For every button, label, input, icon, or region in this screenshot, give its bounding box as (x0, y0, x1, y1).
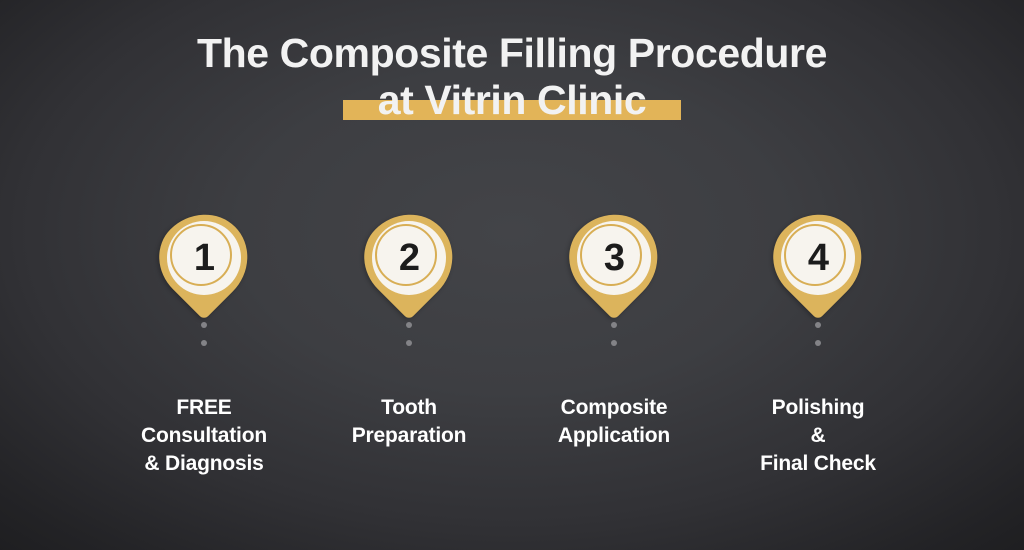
step-1[interactable]: 1FREEConsultation& Diagnosis (94, 214, 314, 318)
map-pin-icon[interactable]: 1 (160, 214, 248, 318)
step-label-line: & (708, 422, 928, 450)
step-label-line: Consultation (94, 422, 314, 450)
connector-dot (406, 322, 412, 328)
step-label-line: Preparation (299, 422, 519, 450)
connector-dot (611, 322, 617, 328)
step-number: 1 (167, 221, 241, 295)
step-label-line: Final Check (708, 450, 928, 478)
connector-dot (406, 340, 412, 346)
step-number: 3 (577, 221, 651, 295)
connector-dot (815, 340, 821, 346)
step-label: ToothPreparation (299, 394, 519, 450)
step-label: Polishing&Final Check (708, 394, 928, 478)
step-label-line: Composite (504, 394, 724, 422)
connector-dot (201, 322, 207, 328)
title-line-1: The Composite Filling Procedure (0, 30, 1024, 77)
map-pin-icon[interactable]: 4 (774, 214, 862, 318)
step-label-line: FREE (94, 394, 314, 422)
connector-dot (201, 340, 207, 346)
connector-dot (611, 340, 617, 346)
map-pin-icon[interactable]: 2 (365, 214, 453, 318)
step-4[interactable]: 4Polishing&Final Check (708, 214, 928, 318)
step-label-line: & Diagnosis (94, 450, 314, 478)
map-pin-icon[interactable]: 3 (570, 214, 658, 318)
connector-dots (611, 322, 617, 358)
title-line-2: at Vitrin Clinic (0, 77, 1024, 124)
step-label-line: Application (504, 422, 724, 450)
connector-dots (406, 322, 412, 358)
step-2[interactable]: 2ToothPreparation (299, 214, 519, 318)
step-number: 4 (781, 221, 855, 295)
steps-container: 1FREEConsultation& Diagnosis2ToothPrepar… (0, 214, 1024, 514)
step-label: CompositeApplication (504, 394, 724, 450)
step-label-line: Polishing (708, 394, 928, 422)
page-title: The Composite Filling Procedure at Vitri… (0, 30, 1024, 124)
infographic-canvas: The Composite Filling Procedure at Vitri… (0, 0, 1024, 550)
connector-dots (815, 322, 821, 358)
connector-dots (201, 322, 207, 358)
step-3[interactable]: 3CompositeApplication (504, 214, 724, 318)
step-label-line: Tooth (299, 394, 519, 422)
connector-dot (815, 322, 821, 328)
step-label: FREEConsultation& Diagnosis (94, 394, 314, 478)
step-number: 2 (372, 221, 446, 295)
